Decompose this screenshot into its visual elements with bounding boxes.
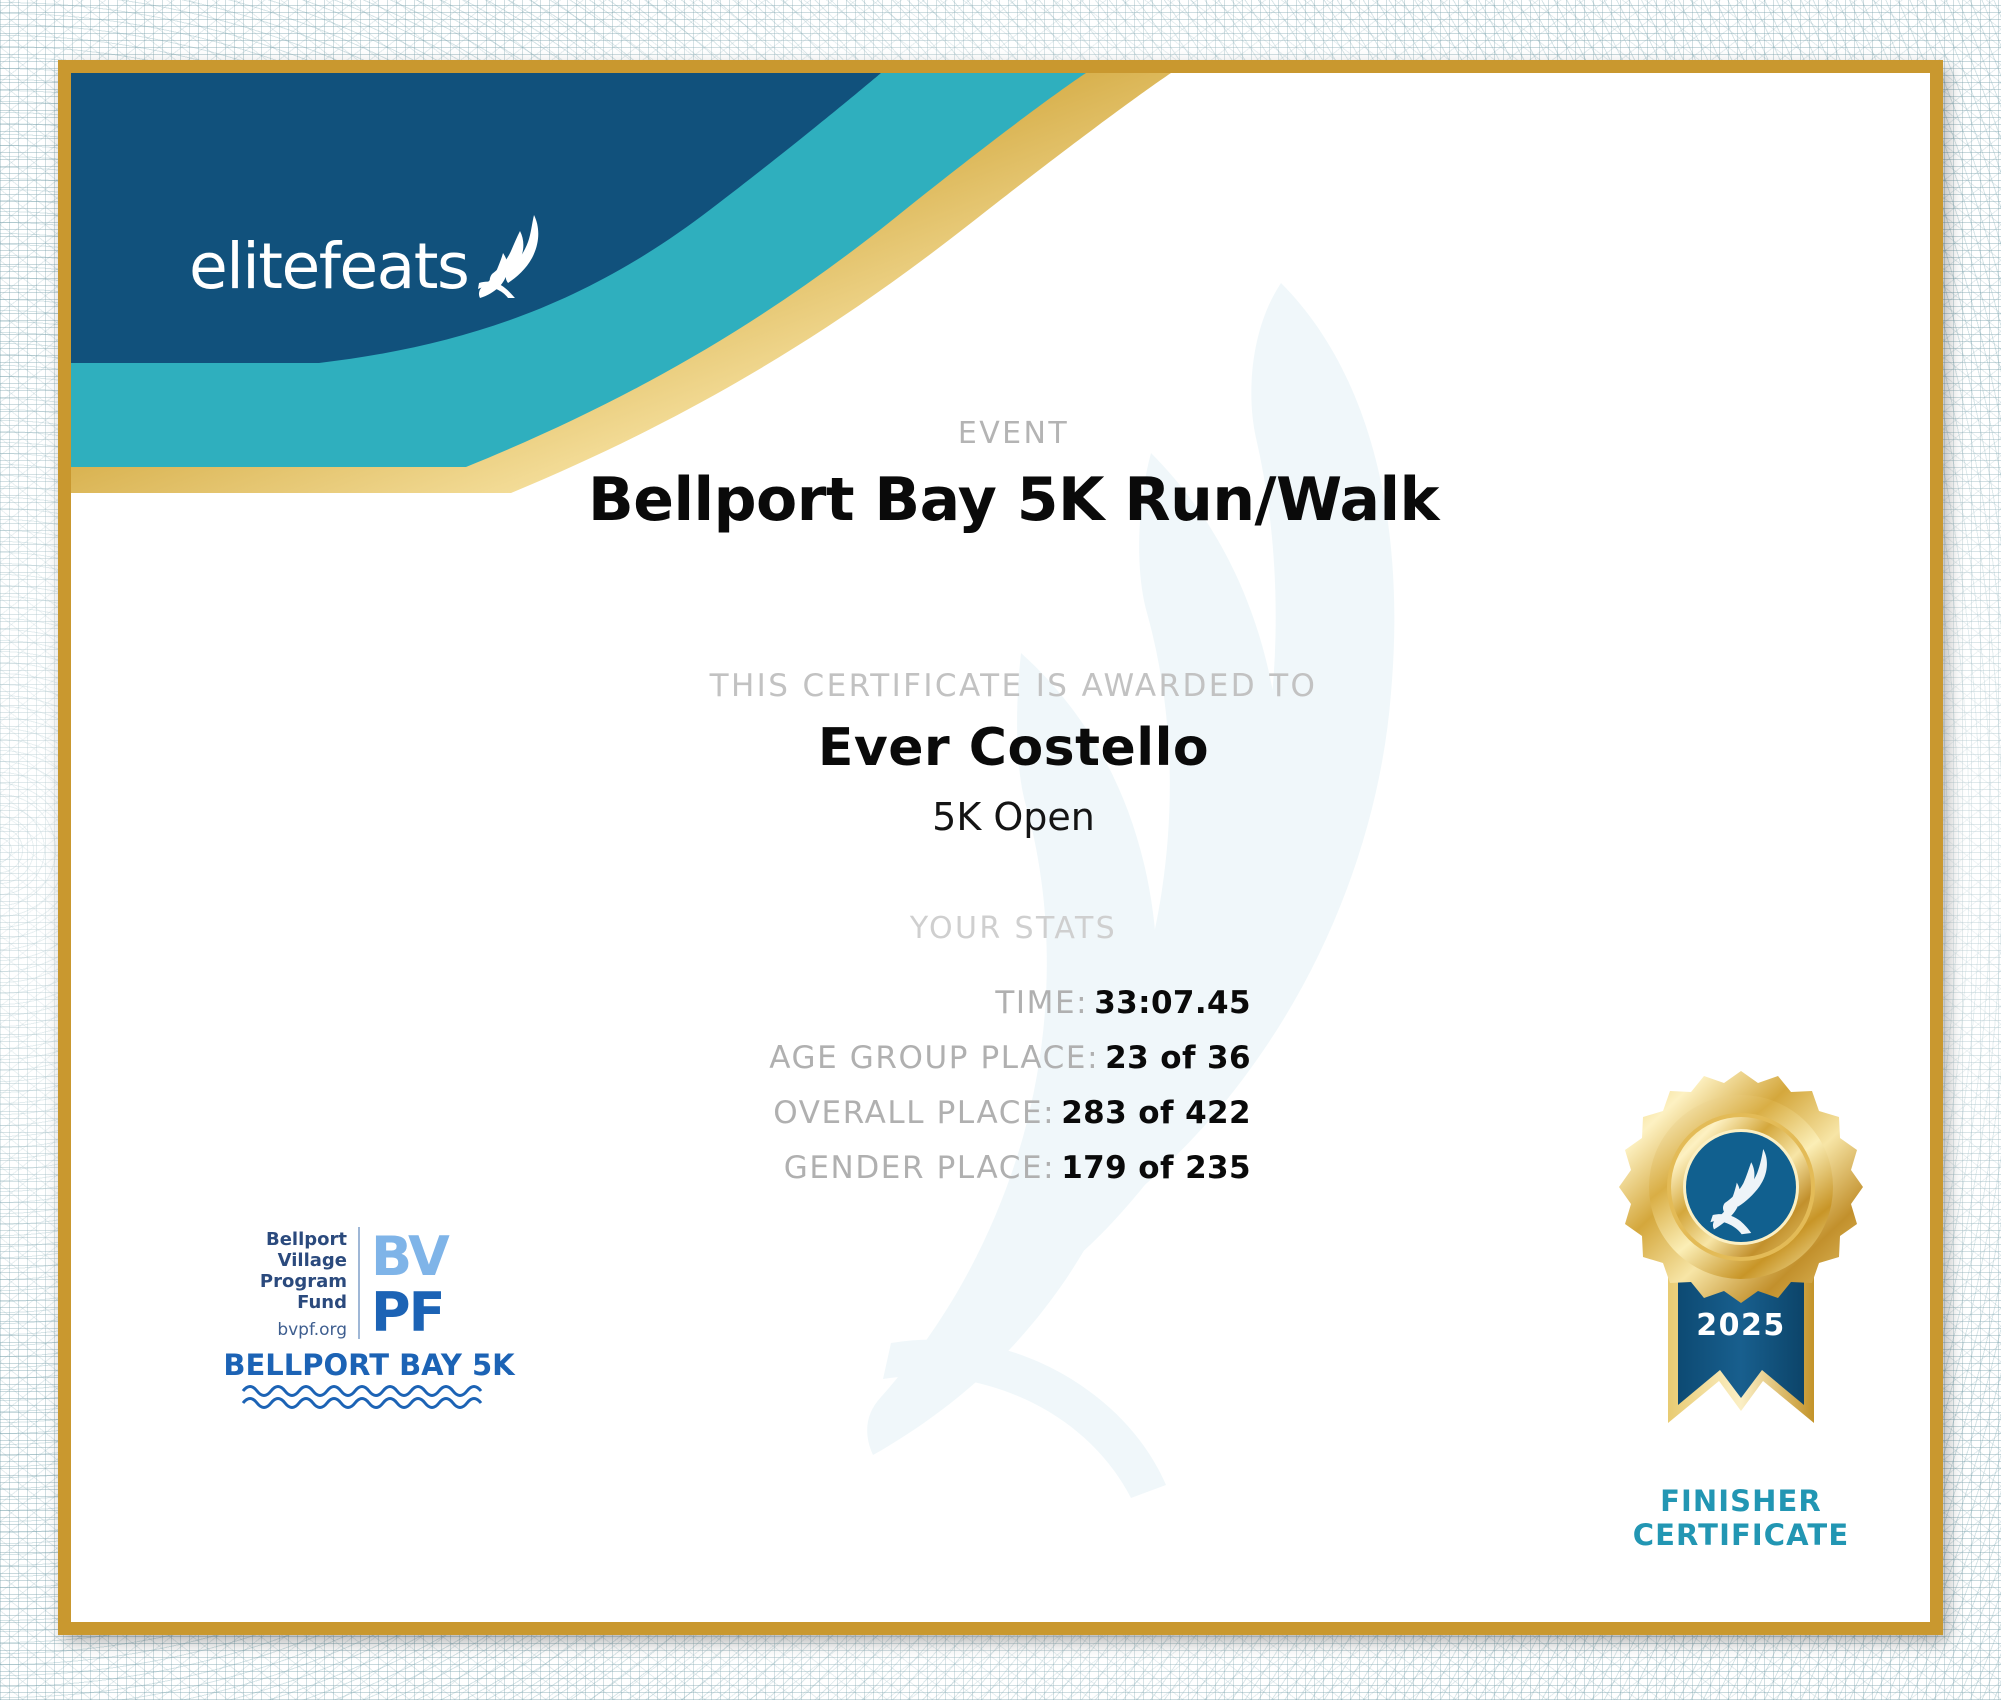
sponsor-logo-bvpf: Bellport Village Program Fund bvpf.org B… <box>219 1223 519 1413</box>
finisher-medal-block: 2025 <box>1531 1063 1930 1603</box>
awarded-to-label: THIS CERTIFICATE IS AWARDED TO <box>71 668 1930 704</box>
finisher-caption-line1: FINISHER <box>1531 1485 1930 1519</box>
finisher-caption: FINISHER CERTIFICATE <box>1531 1485 1930 1553</box>
stat-label: AGE GROUP PLACE: <box>769 1040 1099 1076</box>
sponsor-mark-top: BV <box>371 1225 450 1288</box>
sponsor-line-1: Bellport <box>266 1229 347 1250</box>
your-stats-label: YOUR STATS <box>71 911 1930 946</box>
stat-value: 179 of 235 <box>1061 1150 1251 1186</box>
recipient-division: 5K Open <box>71 795 1930 839</box>
sponsor-website: bvpf.org <box>277 1320 347 1340</box>
sponsor-wave-line-1 <box>243 1387 481 1396</box>
stat-value: 33:07.45 <box>1094 985 1251 1021</box>
winged-foot-medal-icon: 2025 <box>1606 1063 1876 1483</box>
certificate-page: elitefeats EVENT Bellport Bay 5K Run/Wal… <box>0 0 2001 1700</box>
event-name: Bellport Bay 5K Run/Walk <box>71 465 1930 535</box>
certificate-inner: elitefeats EVENT Bellport Bay 5K Run/Wal… <box>71 73 1930 1622</box>
event-label: EVENT <box>71 416 1930 451</box>
sponsor-line-3: Program <box>260 1271 347 1292</box>
stat-label: OVERALL PLACE: <box>773 1095 1055 1131</box>
stat-row-gender-place: GENDER PLACE:179 of 235 <box>71 1148 1251 1189</box>
stat-row-overall-place: OVERALL PLACE:283 of 422 <box>71 1093 1251 1134</box>
sponsor-wave-line-2 <box>243 1399 481 1408</box>
stat-row-time: TIME:33:07.45 <box>71 983 1251 1024</box>
sponsor-line-2: Village <box>278 1250 347 1271</box>
sponsor-line-4: Fund <box>297 1292 347 1313</box>
medal-year: 2025 <box>1696 1308 1786 1343</box>
stat-value: 23 of 36 <box>1105 1040 1251 1076</box>
certificate-card: elitefeats EVENT Bellport Bay 5K Run/Wal… <box>58 60 1943 1635</box>
stats-list: TIME:33:07.45 AGE GROUP PLACE:23 of 36 O… <box>71 983 1251 1203</box>
sponsor-mark-bottom: PF <box>371 1281 443 1344</box>
sponsor-race-name: BELLPORT BAY 5K <box>223 1348 516 1382</box>
finisher-caption-line2: CERTIFICATE <box>1531 1519 1930 1553</box>
stat-row-age-group-place: AGE GROUP PLACE:23 of 36 <box>71 1038 1251 1079</box>
stat-label: GENDER PLACE: <box>784 1150 1055 1186</box>
recipient-name: Ever Costello <box>71 718 1930 778</box>
stat-value: 283 of 422 <box>1061 1095 1251 1131</box>
stat-label: TIME: <box>995 985 1088 1021</box>
